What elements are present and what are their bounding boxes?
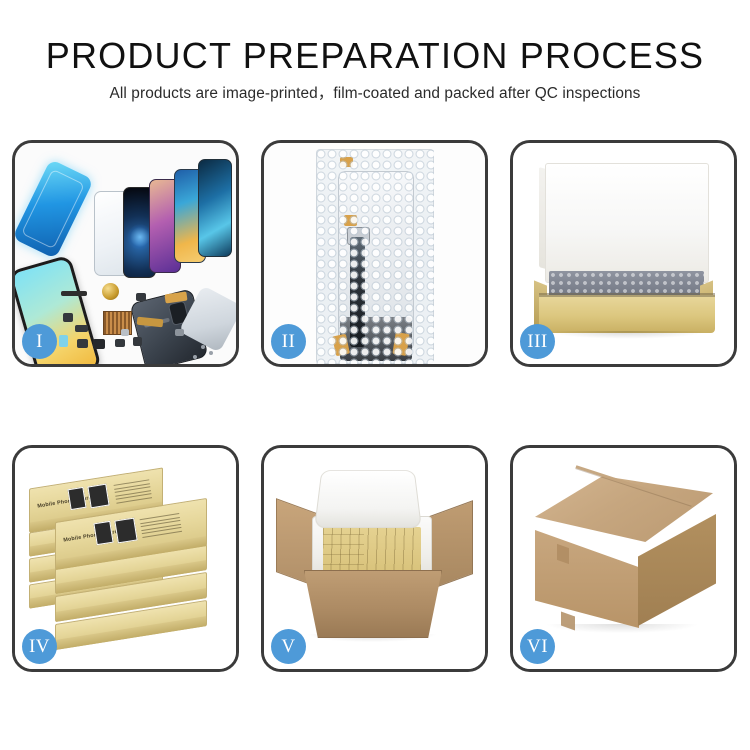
speaker-mesh-part (102, 283, 119, 300)
yellow-boxes-inside (323, 527, 421, 575)
box-shadow (547, 331, 707, 339)
foam-cooler-lid (314, 470, 422, 528)
box-window-front-2 (114, 518, 137, 544)
small-component-h (136, 293, 146, 301)
step-badge-3: III (520, 324, 555, 359)
step-badge-5: V (271, 629, 306, 664)
step-badge-6: VI (520, 629, 555, 664)
small-component-b (75, 325, 88, 332)
step-panel-1[interactable]: I (12, 140, 239, 367)
box-window-rear-1 (67, 487, 86, 510)
product-preparation-infographic: PRODUCT PREPARATION PROCESS All products… (0, 0, 750, 750)
phone-screen-teal (198, 159, 232, 257)
white-paper-liner (545, 163, 709, 283)
step-badge-1: I (22, 324, 57, 359)
cardboard-carton-body (304, 570, 442, 638)
box-window-front-1 (93, 521, 113, 545)
bubble-texture (316, 149, 434, 364)
step-panel-3[interactable]: III (510, 140, 737, 367)
step-badge-4: IV (22, 629, 57, 664)
step-badge-2: II (271, 324, 306, 359)
step-panel-5[interactable]: V (261, 445, 488, 672)
bubble-wrap-pouch (316, 149, 434, 364)
small-component-f (115, 339, 125, 347)
small-component-a (63, 313, 73, 322)
process-step-grid: I II (12, 140, 738, 672)
step-panel-4[interactable]: Mobile Phone Spare Parts Mobile Phone Sp… (12, 445, 239, 672)
small-component-e (93, 339, 105, 349)
screw-1 (201, 345, 205, 349)
small-component-j (175, 329, 184, 336)
page-title: PRODUCT PREPARATION PROCESS (0, 34, 750, 78)
header: PRODUCT PREPARATION PROCESS All products… (0, 34, 750, 104)
screw-3 (193, 355, 197, 359)
small-component-c (59, 335, 68, 347)
earpiece-bar (61, 291, 87, 296)
step-panel-2[interactable]: II (261, 140, 488, 367)
page-subtitle: All products are image-printed，film-coat… (0, 84, 750, 104)
box-window-rear-2 (87, 484, 109, 509)
small-component-g (133, 337, 142, 346)
box-top-edge (539, 293, 715, 297)
screw-2 (209, 351, 213, 355)
step-panel-6[interactable]: VI (510, 445, 737, 672)
yellow-box-front (539, 295, 715, 333)
small-component-d (77, 339, 88, 348)
small-component-i (121, 329, 129, 336)
